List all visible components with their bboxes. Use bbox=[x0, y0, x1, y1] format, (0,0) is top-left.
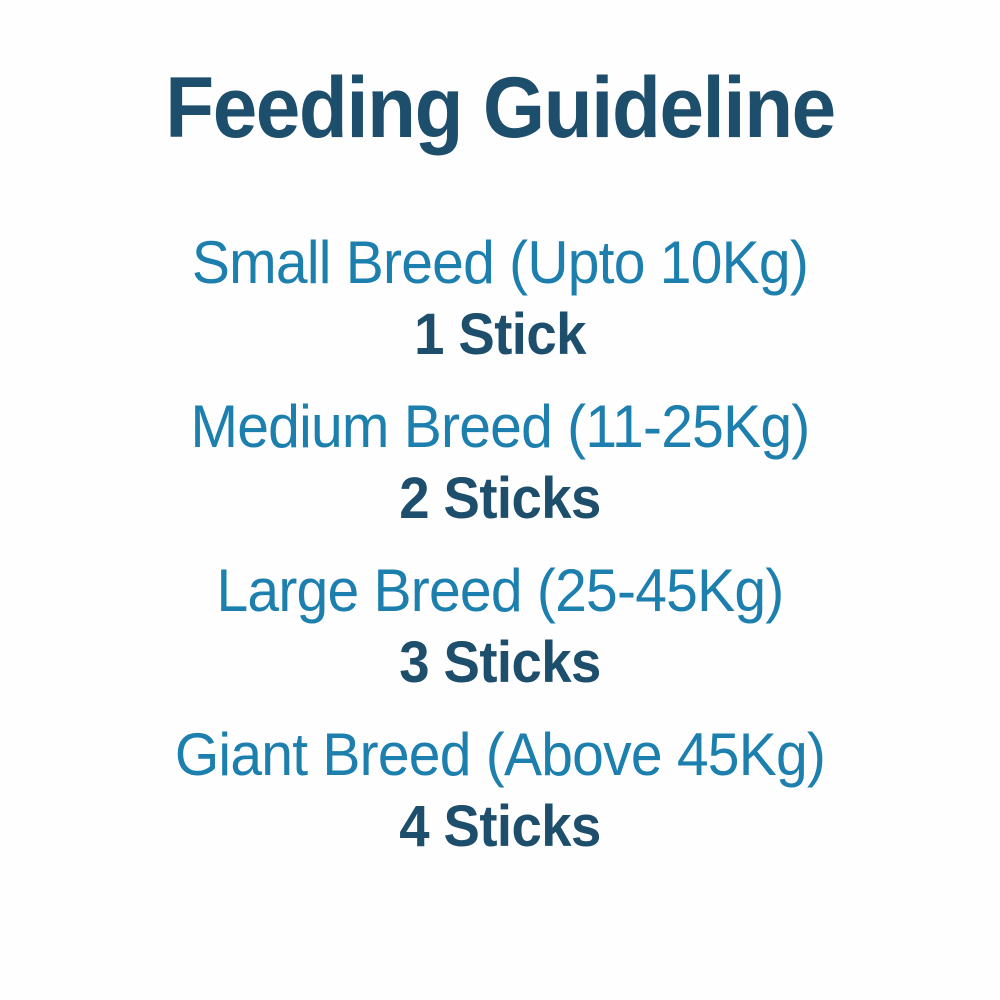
feeding-guideline-poster: Feeding Guideline Small Breed (Upto 10Kg… bbox=[0, 0, 1000, 1000]
breed-label: Small Breed (Upto 10Kg) bbox=[25, 228, 975, 299]
stick-amount: 3 Sticks bbox=[30, 629, 970, 696]
breed-label: Medium Breed (11-25Kg) bbox=[25, 392, 975, 463]
guideline-row: Large Breed (25-45Kg) 3 Sticks bbox=[0, 556, 1000, 696]
stick-amount: 4 Sticks bbox=[30, 793, 970, 860]
stick-amount: 1 Stick bbox=[30, 301, 970, 368]
guideline-row: Medium Breed (11-25Kg) 2 Sticks bbox=[0, 392, 1000, 532]
breed-label: Giant Breed (Above 45Kg) bbox=[25, 720, 975, 791]
guideline-row: Giant Breed (Above 45Kg) 4 Sticks bbox=[0, 720, 1000, 860]
stick-amount: 2 Sticks bbox=[30, 465, 970, 532]
breed-label: Large Breed (25-45Kg) bbox=[25, 556, 975, 627]
feeding-guideline-list: Small Breed (Upto 10Kg) 1 Stick Medium B… bbox=[0, 228, 1000, 860]
page-title: Feeding Guideline bbox=[35, 62, 965, 155]
guideline-row: Small Breed (Upto 10Kg) 1 Stick bbox=[0, 228, 1000, 368]
